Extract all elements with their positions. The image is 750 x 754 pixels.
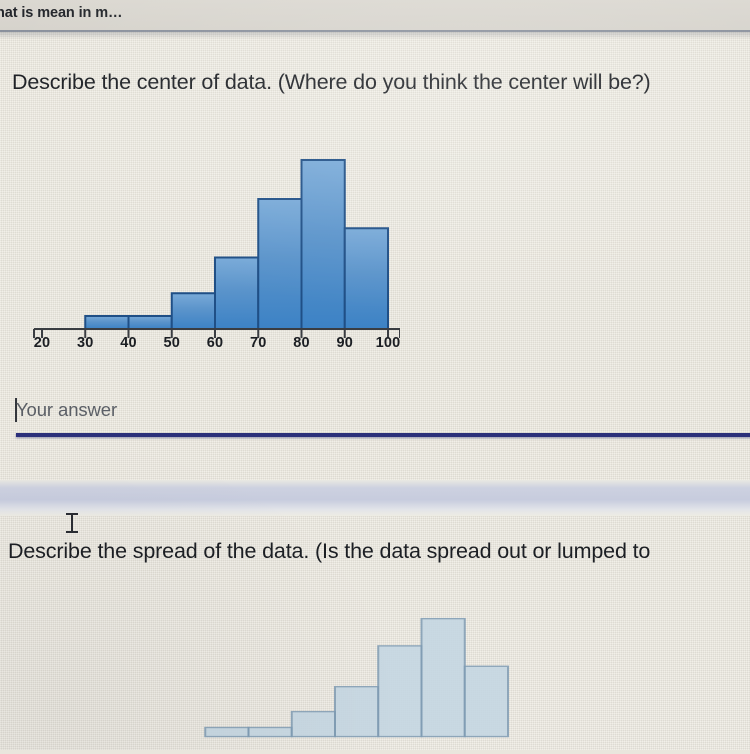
x-axis-tick-label: 20 xyxy=(34,335,51,351)
histogram-bar xyxy=(205,727,248,736)
histogram-bar xyxy=(345,228,388,329)
histogram-bar xyxy=(422,619,465,737)
x-axis-tick-label: 40 xyxy=(120,335,137,351)
browser-tab-strip: hat is mean in m… xyxy=(0,0,750,30)
x-axis-tick-label: 90 xyxy=(336,335,353,351)
question-1-text: Describe the center of data. (Where do y… xyxy=(12,70,651,95)
x-axis-tick-label: 100 xyxy=(376,335,401,351)
histogram-bar xyxy=(85,316,128,329)
histogram-bar xyxy=(465,666,508,736)
form-body: Describe the center of data. (Where do y… xyxy=(0,39,750,750)
browser-tab-title[interactable]: hat is mean in m… xyxy=(0,5,122,21)
answer-placeholder-q1: Your answer xyxy=(16,399,117,421)
histogram-bar xyxy=(129,316,172,329)
histogram-svg-1 xyxy=(30,139,400,354)
mouse-text-cursor-icon xyxy=(66,512,78,534)
histogram-chart-2 xyxy=(150,604,520,754)
histogram-bar xyxy=(302,160,345,329)
histogram-axis-labels-1: 2030405060708090100 xyxy=(30,335,400,359)
x-axis-tick-label: 80 xyxy=(293,335,310,351)
question-2-text: Describe the spread of the data. (Is the… xyxy=(8,539,650,564)
histogram-bar xyxy=(249,727,292,736)
histogram-bar xyxy=(215,258,258,330)
histogram-bars-1 xyxy=(85,160,388,329)
histogram-svg-2 xyxy=(150,604,520,754)
section-divider xyxy=(0,480,750,516)
histogram-bar xyxy=(335,687,378,737)
histogram-bars-2 xyxy=(205,619,508,737)
answer-input-q1[interactable]: Your answer xyxy=(8,399,750,443)
histogram-bar xyxy=(378,646,421,737)
histogram-chart-1: 2030405060708090100 xyxy=(30,139,400,354)
histogram-bar xyxy=(172,293,215,329)
x-axis-tick-label: 50 xyxy=(163,335,180,351)
x-axis-tick-label: 60 xyxy=(207,335,224,351)
x-axis-tick-label: 70 xyxy=(250,335,267,351)
histogram-bar xyxy=(292,712,335,737)
answer-underline-q1 xyxy=(16,433,750,437)
x-axis-tick-label: 30 xyxy=(77,335,94,351)
tab-strip-shadow xyxy=(0,32,750,39)
histogram-bar xyxy=(258,199,301,329)
